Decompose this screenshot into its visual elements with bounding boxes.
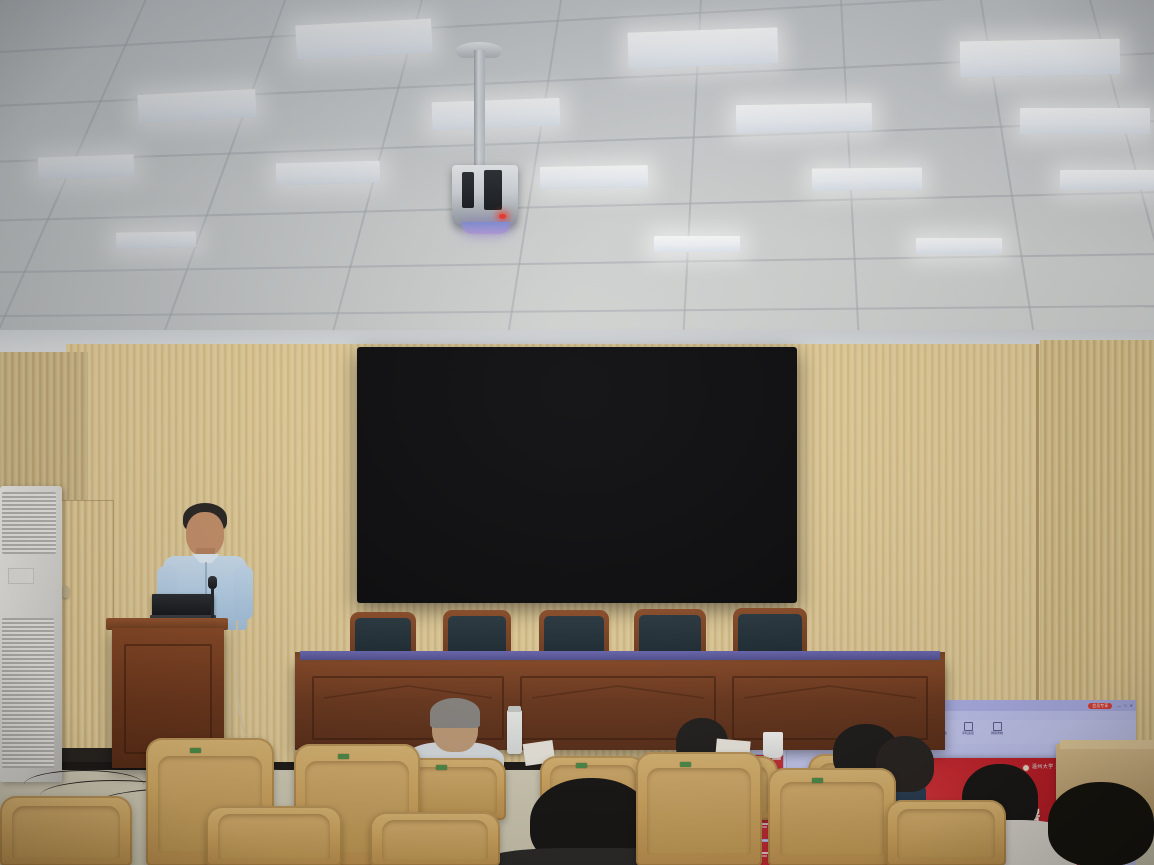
maximize-button[interactable]: □ — [1124, 704, 1126, 708]
vip-button[interactable]: 会员专享 — [1088, 703, 1112, 709]
ceiling-light-panel — [1020, 108, 1150, 134]
ribbon-button-remote[interactable]: 手机遥控 — [957, 722, 979, 735]
minimize-button[interactable]: — — [1117, 704, 1121, 708]
seat-number-tag — [576, 763, 587, 768]
screen-record-icon — [993, 722, 1002, 731]
auditorium-seat — [636, 752, 762, 865]
auditorium-seat — [370, 812, 500, 865]
ceiling-light-panel — [38, 154, 135, 179]
seat-number-tag — [680, 762, 691, 767]
ceiling-light-panel — [540, 165, 648, 189]
podium-laptop — [152, 594, 214, 616]
auditorium-seat — [768, 768, 896, 865]
lecture-hall-photo: 暑假前PPT学院工作.pptx 学院暨期工作安排·2023 版 工作表.xlsx… — [0, 0, 1154, 865]
seat-number-tag — [190, 748, 201, 753]
seat-number-tag — [338, 754, 349, 759]
panel-inlay — [732, 676, 928, 740]
seat-number-tag — [812, 778, 823, 783]
ceiling — [0, 0, 1154, 352]
ceiling-light-panel — [1060, 170, 1154, 190]
auditorium-seat — [886, 800, 1006, 865]
wall-door[interactable] — [58, 500, 114, 770]
ceiling-light-panel — [137, 89, 256, 123]
ceiling-light-panel — [116, 231, 196, 248]
ceiling-light-panel — [654, 236, 740, 252]
ceiling-light-panel — [432, 98, 561, 130]
auditorium-seat — [206, 806, 342, 865]
water-bottle — [507, 710, 522, 754]
paper-cup — [763, 732, 783, 758]
ceiling-light-panel — [960, 39, 1121, 78]
ceiling-light-panel — [295, 18, 433, 59]
projection-screen: 暑假前PPT学院工作.pptx 学院暨期工作安排·2023 版 工作表.xlsx… — [357, 347, 797, 603]
auditorium-seat — [0, 796, 132, 865]
close-button[interactable]: ✕ — [1130, 704, 1133, 708]
ceiling-light-panel — [916, 238, 1002, 254]
audience-head — [1048, 782, 1154, 865]
door-handle[interactable] — [62, 586, 69, 598]
seat-number-tag — [436, 765, 447, 770]
ceiling-light-panel — [276, 161, 381, 186]
ceiling-light-panel — [736, 103, 872, 133]
ceiling-light-panel — [812, 168, 922, 191]
audience-hair — [430, 698, 480, 728]
ribbon-button-screen-record[interactable]: 屏幕录制 — [986, 722, 1008, 735]
ceiling-light-panel — [627, 27, 778, 68]
projector-power-led — [499, 214, 506, 219]
speaker-arm-right — [233, 566, 253, 620]
remote-icon — [964, 722, 973, 731]
